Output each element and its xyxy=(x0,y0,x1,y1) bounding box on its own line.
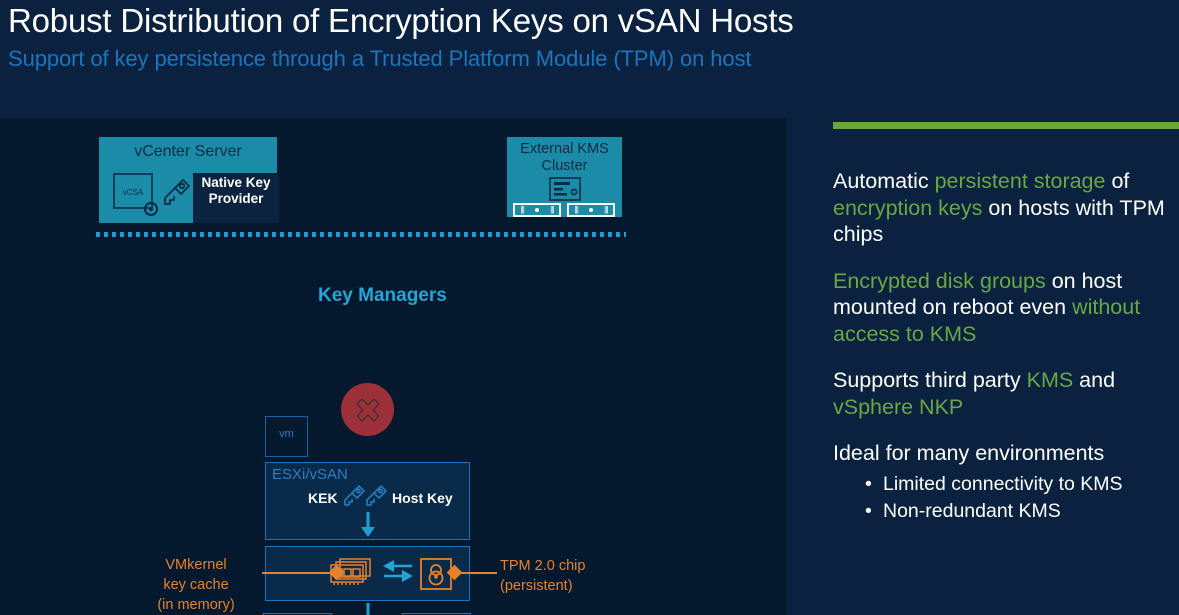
highlighted-text: vSphere NKP xyxy=(833,395,963,419)
kms-node-dot xyxy=(589,208,593,212)
key-icon xyxy=(161,177,191,211)
list-item: Limited connectivity to KMS xyxy=(833,471,1179,498)
highlighted-text: Encrypted disk groups xyxy=(833,269,1046,293)
kms-node-bars: ||| xyxy=(550,206,553,214)
caption-line: (in memory) xyxy=(130,595,262,615)
benefits-list: Automatic persistent storage of encrypti… xyxy=(833,168,1179,525)
vmkernel-connector-line xyxy=(262,572,338,574)
caption-line: key cache xyxy=(130,575,262,595)
body-text: of xyxy=(1105,169,1129,193)
down-arrow-icon xyxy=(358,603,378,615)
kms-node-bars: ||| xyxy=(575,206,578,214)
vcenter-server-box: vCenter Server vCSA Native Key Provider xyxy=(99,137,277,223)
sub-bullet-list: Limited connectivity to KMSNon-redundant… xyxy=(833,471,1179,525)
vm-label: vm xyxy=(265,428,308,440)
kms-node-bars: ||| xyxy=(604,206,607,214)
highlighted-text: KMS xyxy=(1027,368,1074,392)
benefit-paragraph: Supports third party KMS and vSphere NKP xyxy=(833,367,1179,420)
vcsa-icon: vCSA xyxy=(113,173,159,217)
tpm-chip-caption: TPM 2.0 chip (persistent) xyxy=(500,556,585,596)
vcenter-server-label: vCenter Server xyxy=(99,143,277,161)
bidirectional-arrows-icon xyxy=(382,559,414,587)
list-item: Non-redundant KMS xyxy=(833,498,1179,525)
server-icon xyxy=(549,177,581,201)
external-kms-cluster-label: External KMS Cluster xyxy=(507,141,622,175)
caption-line: TPM 2.0 chip xyxy=(500,556,585,576)
highlighted-text: encryption keys xyxy=(833,196,982,220)
body-text: Automatic xyxy=(833,169,935,193)
native-key-provider-label: Native Key Provider xyxy=(193,175,279,207)
slide-root: Robust Distribution of Encryption Keys o… xyxy=(0,0,1179,615)
page-title: Robust Distribution of Encryption Keys o… xyxy=(8,2,794,40)
caption-line: VMkernel xyxy=(130,555,262,575)
body-text: Supports third party xyxy=(833,368,1027,392)
vmkernel-key-cache-caption: VMkernel key cache (in memory) xyxy=(130,555,262,615)
benefit-paragraph: Ideal for many environments xyxy=(833,440,1179,467)
highlighted-text: persistent storage xyxy=(935,169,1106,193)
svg-text:vCSA: vCSA xyxy=(123,188,144,197)
down-arrow-icon xyxy=(358,512,378,538)
benefit-paragraph: Automatic persistent storage of encrypti… xyxy=(833,168,1179,248)
page-subtitle: Support of key persistence through a Tru… xyxy=(8,46,751,72)
kms-node: ||| ||| xyxy=(513,203,561,217)
no-connection-x-icon xyxy=(341,383,394,436)
body-text: Ideal for many environments xyxy=(833,441,1104,465)
architecture-diagram: vCenter Server vCSA Native Key Provider … xyxy=(0,118,786,615)
slide-header: Robust Distribution of Encryption Keys o… xyxy=(0,0,1179,118)
kms-node-bars: ||| xyxy=(521,206,524,214)
host-key-label: Host Key xyxy=(392,490,453,506)
benefit-paragraph: Encrypted disk groups on host mounted on… xyxy=(833,268,1179,348)
esxi-vsan-label: ESXi/vSAN xyxy=(272,466,348,483)
external-kms-cluster-box: External KMS Cluster ||| ||| ||| ||| xyxy=(507,137,622,217)
kms-node-dot xyxy=(535,208,539,212)
kms-node: ||| ||| xyxy=(567,203,615,217)
dotted-divider xyxy=(96,232,626,237)
body-text: and xyxy=(1073,368,1115,392)
tpm-lock-icon xyxy=(420,558,452,590)
key-pair-icon xyxy=(344,484,390,510)
caption-line: (persistent) xyxy=(500,576,585,596)
kek-label: KEK xyxy=(308,490,338,506)
x-glyph xyxy=(353,395,383,425)
green-accent-rail xyxy=(833,122,1179,129)
key-managers-label: Key Managers xyxy=(318,285,447,307)
